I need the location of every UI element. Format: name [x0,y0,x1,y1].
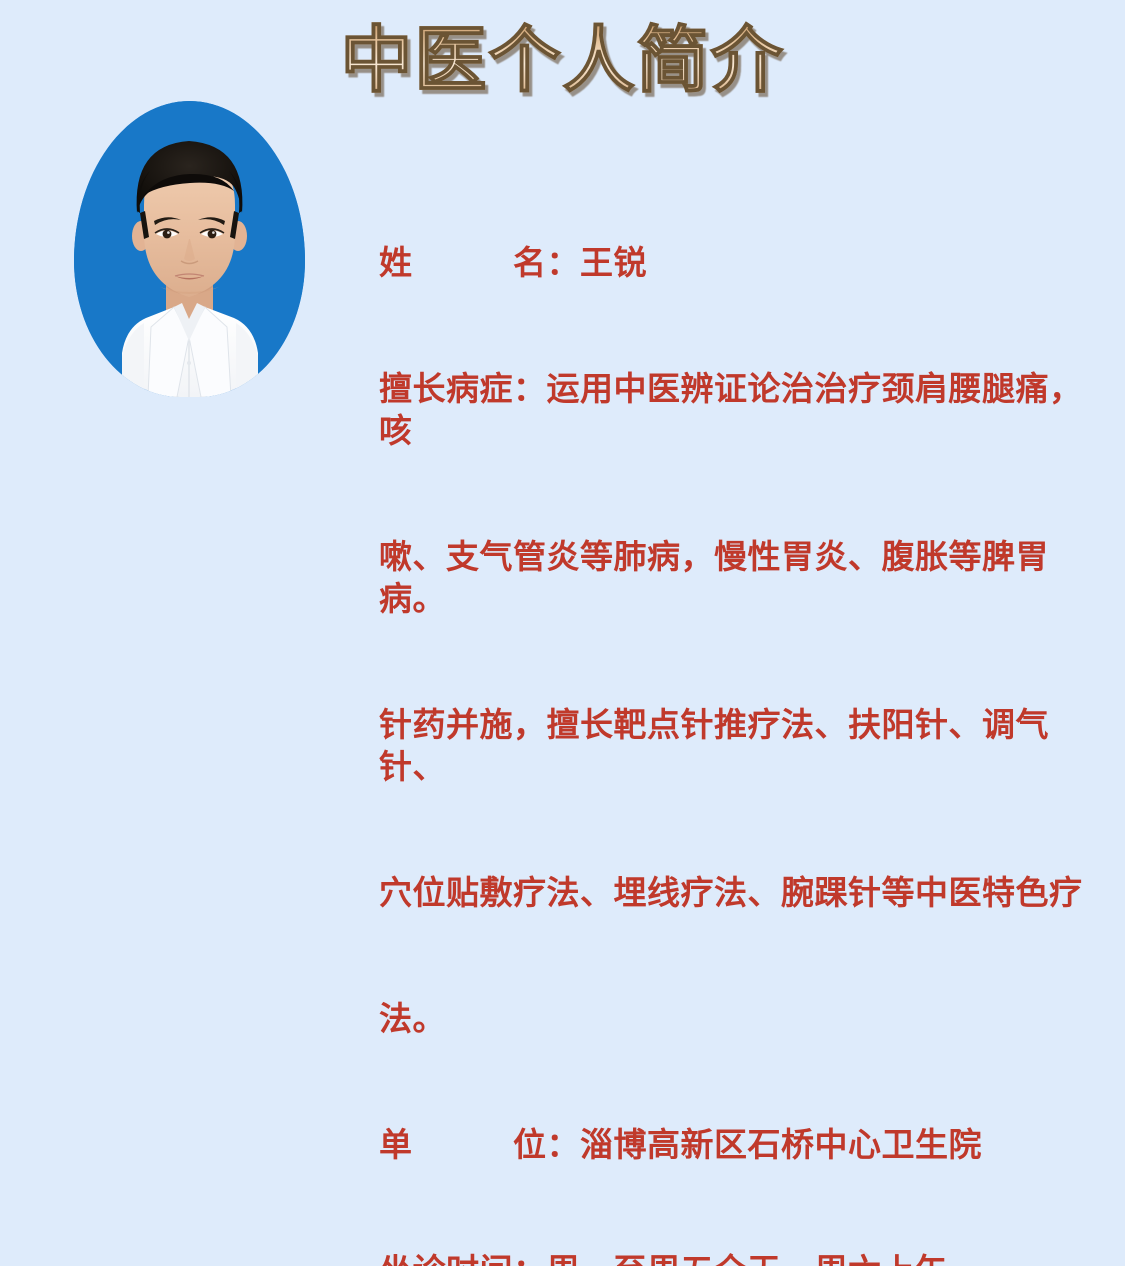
info-line-specialty-5: 法。 [379,998,1109,1040]
info-line-specialty-2: 嗽、支气管炎等肺病，慢性胃炎、腹胀等脾胃病。 [379,536,1109,620]
info-line-specialty-1: 擅长病症：运用中医辨证论治治疗颈肩腰腿痛，咳 [379,368,1109,452]
doctor-info-block: 姓 名：王锐 擅长病症：运用中医辨证论治治疗颈肩腰腿痛，咳 嗽、支气管炎等肺病，… [379,158,1109,1266]
info-line-hours: 坐诊时间：周一至周五全天，周六上午 [379,1250,1109,1266]
doctor-portrait-photo [74,101,305,397]
info-line-unit: 单 位：淄博高新区石桥中心卫生院 [379,1124,1109,1166]
info-line-name: 姓 名：王锐 [379,242,1109,284]
info-line-specialty-3: 针药并施，擅长靶点针推疗法、扶阳针、调气针、 [379,704,1109,788]
slide-root: 中医个人简介 [0,0,1125,633]
title-container: 中医个人简介 [0,22,1125,98]
info-line-specialty-4: 穴位贴敷疗法、埋线疗法、腕踝针等中医特色疗 [379,872,1109,914]
page-title: 中医个人简介 [340,22,784,98]
portrait-illustration [74,101,305,397]
